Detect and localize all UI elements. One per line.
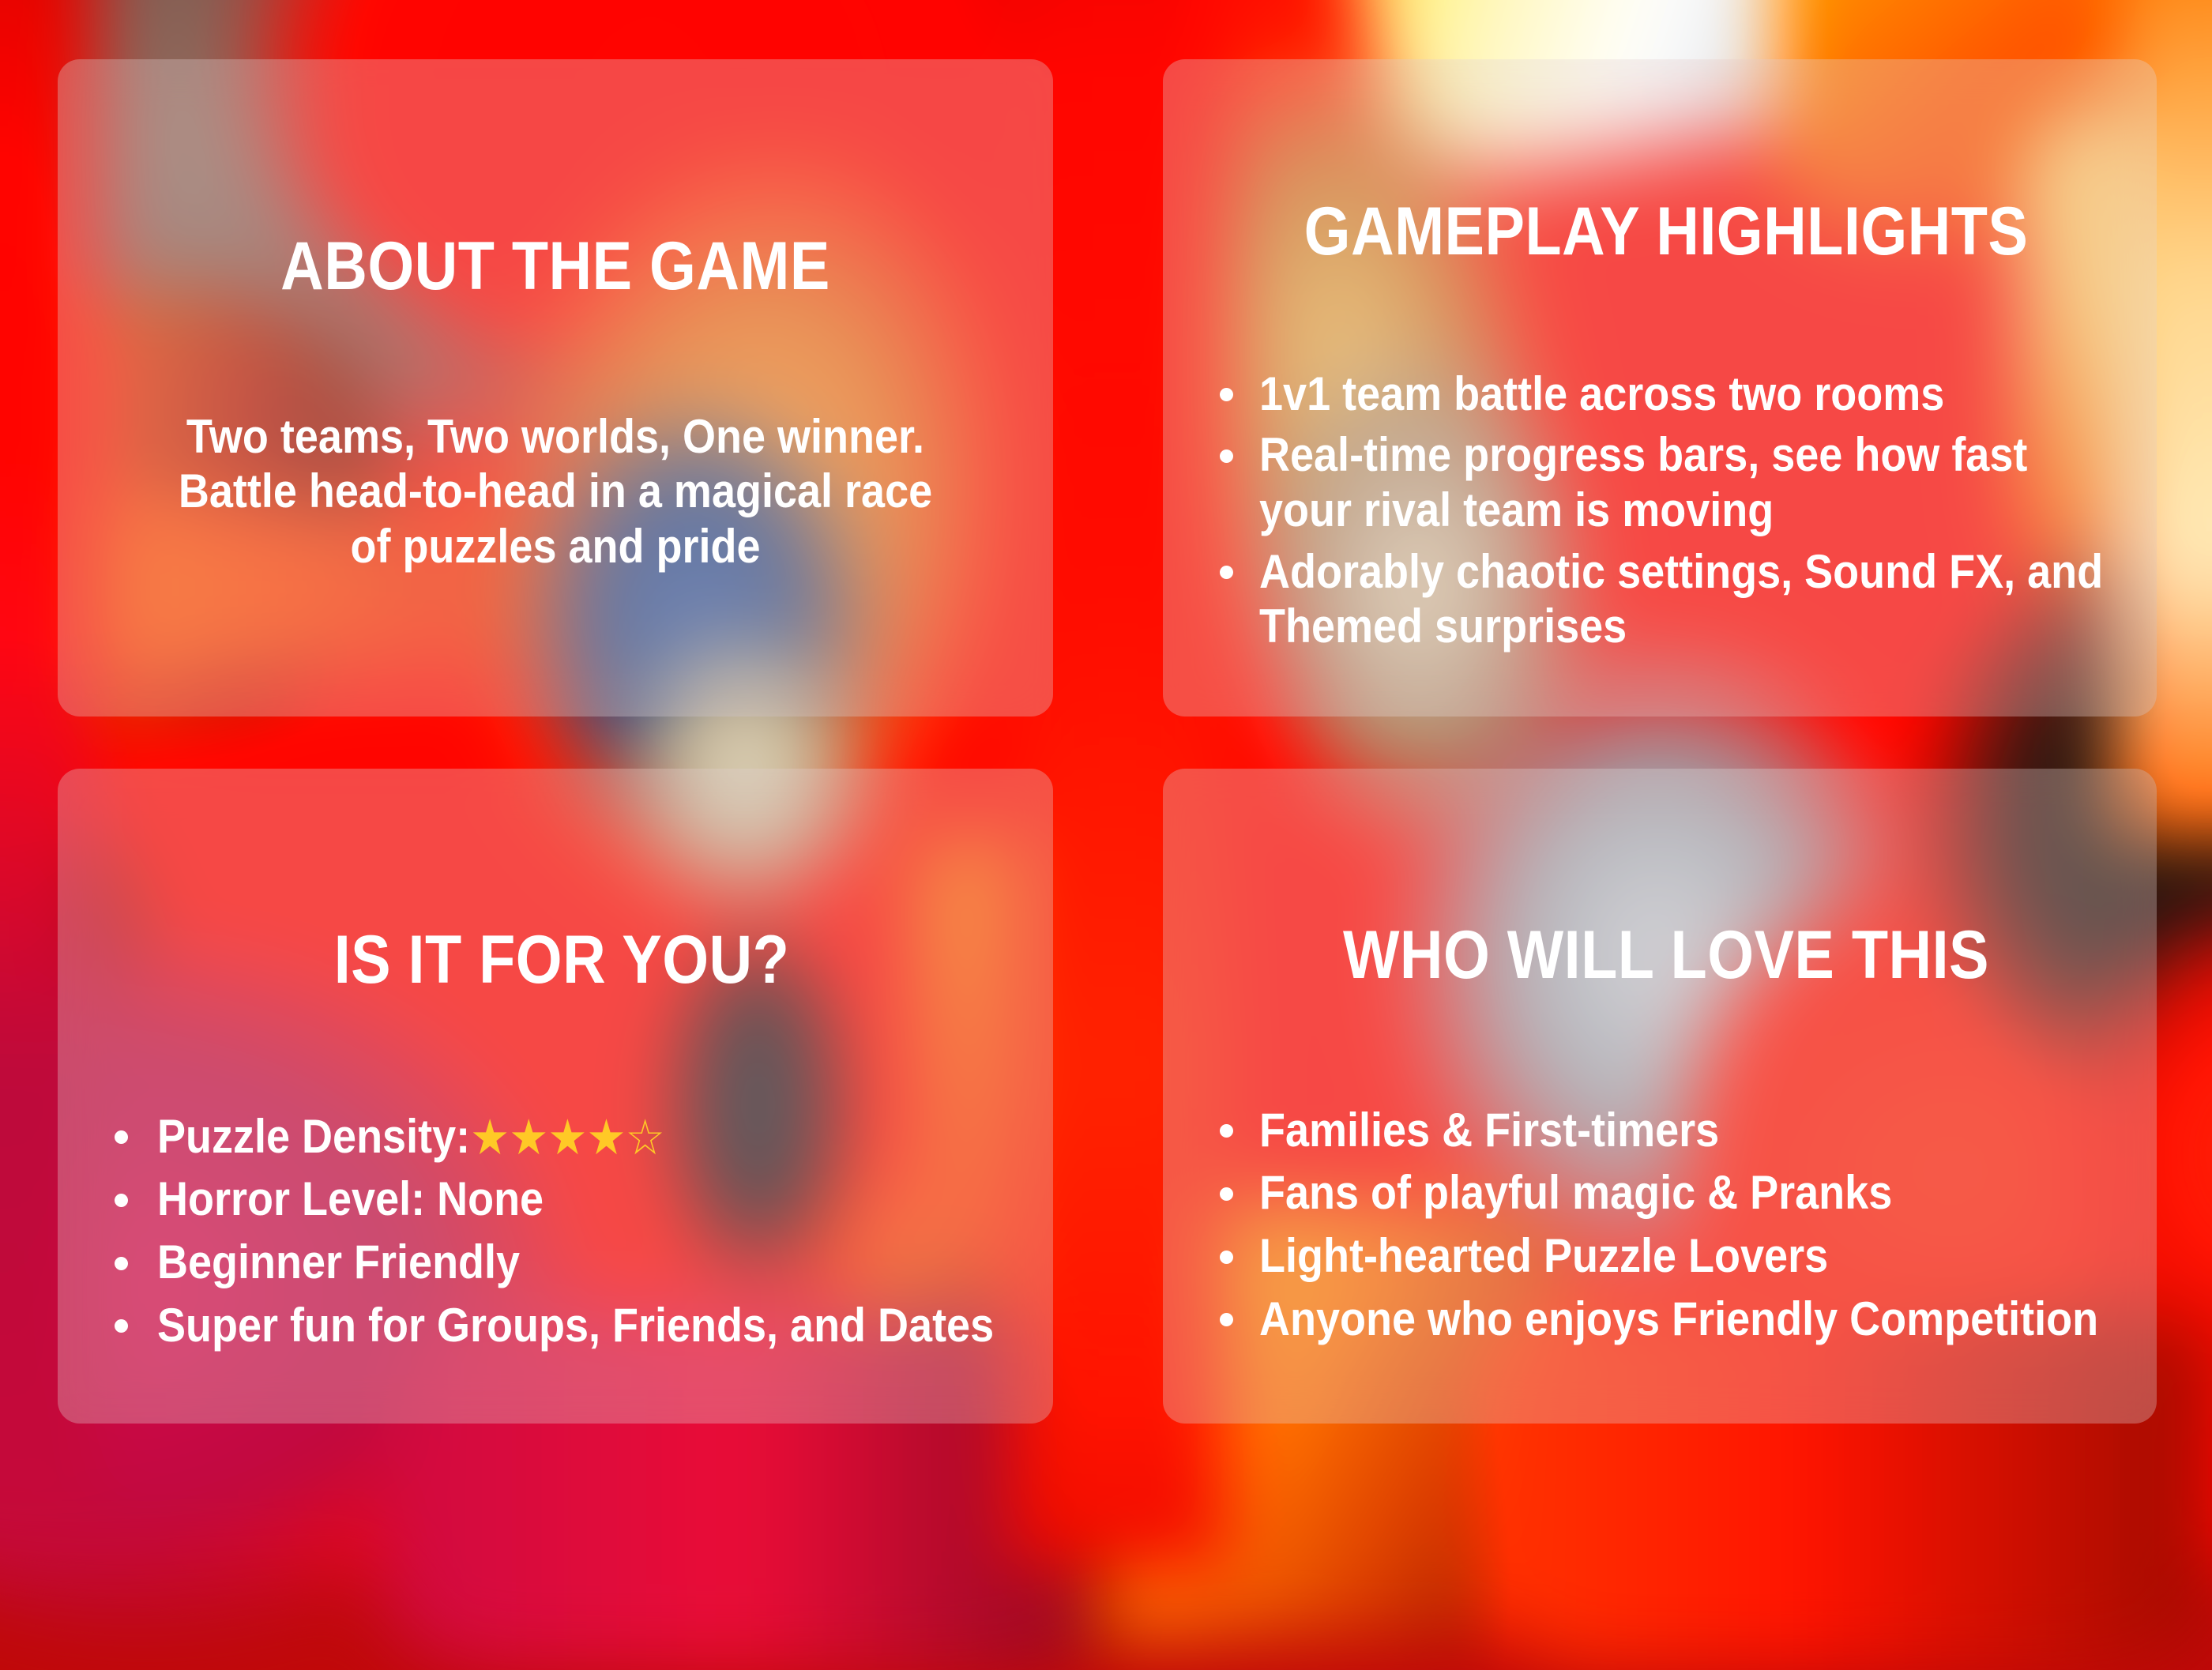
list-item: Adorably chaotic settings, Sound FX, and…	[1207, 544, 2125, 654]
gameplay-highlights-list: 1v1 team battle across two rooms Real-ti…	[1207, 367, 2125, 660]
info-card-grid: ABOUT THE GAME Two teams, Two worlds, On…	[58, 59, 2157, 1424]
list-item: Real-time progress bars, see how fast yo…	[1207, 427, 2125, 537]
card-about-the-game: ABOUT THE GAME Two teams, Two worlds, On…	[58, 59, 1053, 717]
list-item-label: Adorably chaotic settings, Sound FX, and…	[1259, 544, 2124, 654]
list-item-label: Super fun for Groups, Friends, and Dates	[157, 1298, 1021, 1353]
list-item-label: Beginner Friendly	[157, 1235, 1021, 1290]
bullet-dot-icon	[1220, 566, 1233, 579]
bullet-dot-icon	[115, 1319, 128, 1333]
bullet-dot-icon	[1220, 1187, 1233, 1201]
bullet-dot-icon	[1220, 1251, 1233, 1264]
bullet-dot-icon	[1220, 1313, 1233, 1326]
list-item-label: 1v1 team battle across two rooms	[1259, 367, 2124, 422]
bullet-dot-icon	[115, 1257, 128, 1270]
list-item-label: Puzzle Density: ★★★★☆	[157, 1109, 1021, 1164]
bullet-dot-icon	[115, 1194, 128, 1207]
about-the-game-paragraph: Two teams, Two worlds, One winner. Battl…	[139, 409, 972, 574]
paragraph-line: of puzzles and pride	[139, 519, 972, 574]
who-will-love-this-list: Families & First-timers Fans of playful …	[1207, 1103, 2125, 1354]
list-item: Light-hearted Puzzle Lovers	[1207, 1228, 2125, 1284]
list-item-label: Fans of playful magic & Pranks	[1259, 1165, 2124, 1221]
card-gameplay-highlights: GAMEPLAY HIGHLIGHTS 1v1 team battle acro…	[1163, 59, 2157, 717]
bullet-dot-icon	[1220, 388, 1233, 401]
list-item-label: Anyone who enjoys Friendly Competition	[1259, 1292, 2124, 1347]
bullet-dot-icon	[1220, 449, 1233, 463]
list-item: Puzzle Density: ★★★★☆	[102, 1109, 1021, 1164]
list-item: Horror Level: None	[102, 1172, 1021, 1227]
list-item: Anyone who enjoys Friendly Competition	[1207, 1292, 2125, 1347]
card-title-gameplay-highlights: GAMEPLAY HIGHLIGHTS	[1262, 197, 2071, 265]
card-title-about-the-game: ABOUT THE GAME	[148, 232, 962, 300]
list-item: Beginner Friendly	[102, 1235, 1021, 1290]
card-who-will-love-this: WHO WILL LOVE THIS Families & First-time…	[1163, 769, 2157, 1424]
list-item-label: Light-hearted Puzzle Lovers	[1259, 1228, 2124, 1284]
list-item-label: Families & First-timers	[1259, 1103, 2124, 1158]
bullet-dot-icon	[115, 1130, 128, 1144]
puzzle-density-label: Puzzle Density:	[157, 1110, 470, 1163]
star-rating: ★★★★☆	[470, 1114, 664, 1163]
is-it-for-you-list: Puzzle Density: ★★★★☆ Horror Level: None…	[102, 1109, 1021, 1360]
list-item: 1v1 team battle across two rooms	[1207, 367, 2125, 422]
paragraph-line: Two teams, Two worlds, One winner.	[139, 409, 972, 465]
list-item-label: Real-time progress bars, see how fast yo…	[1259, 427, 2124, 537]
bullet-dot-icon	[1220, 1124, 1233, 1138]
list-item: Fans of playful magic & Pranks	[1207, 1165, 2125, 1221]
card-title-is-it-for-you: IS IT FOR YOU?	[157, 926, 966, 994]
paragraph-line: Battle head-to-head in a magical race	[139, 464, 972, 519]
card-title-who-will-love-this: WHO WILL LOVE THIS	[1262, 921, 2071, 989]
card-is-it-for-you: IS IT FOR YOU? Puzzle Density: ★★★★☆ Hor…	[58, 769, 1053, 1424]
list-item: Families & First-timers	[1207, 1103, 2125, 1158]
list-item: Super fun for Groups, Friends, and Dates	[102, 1298, 1021, 1353]
list-item-label: Horror Level: None	[157, 1172, 1021, 1227]
